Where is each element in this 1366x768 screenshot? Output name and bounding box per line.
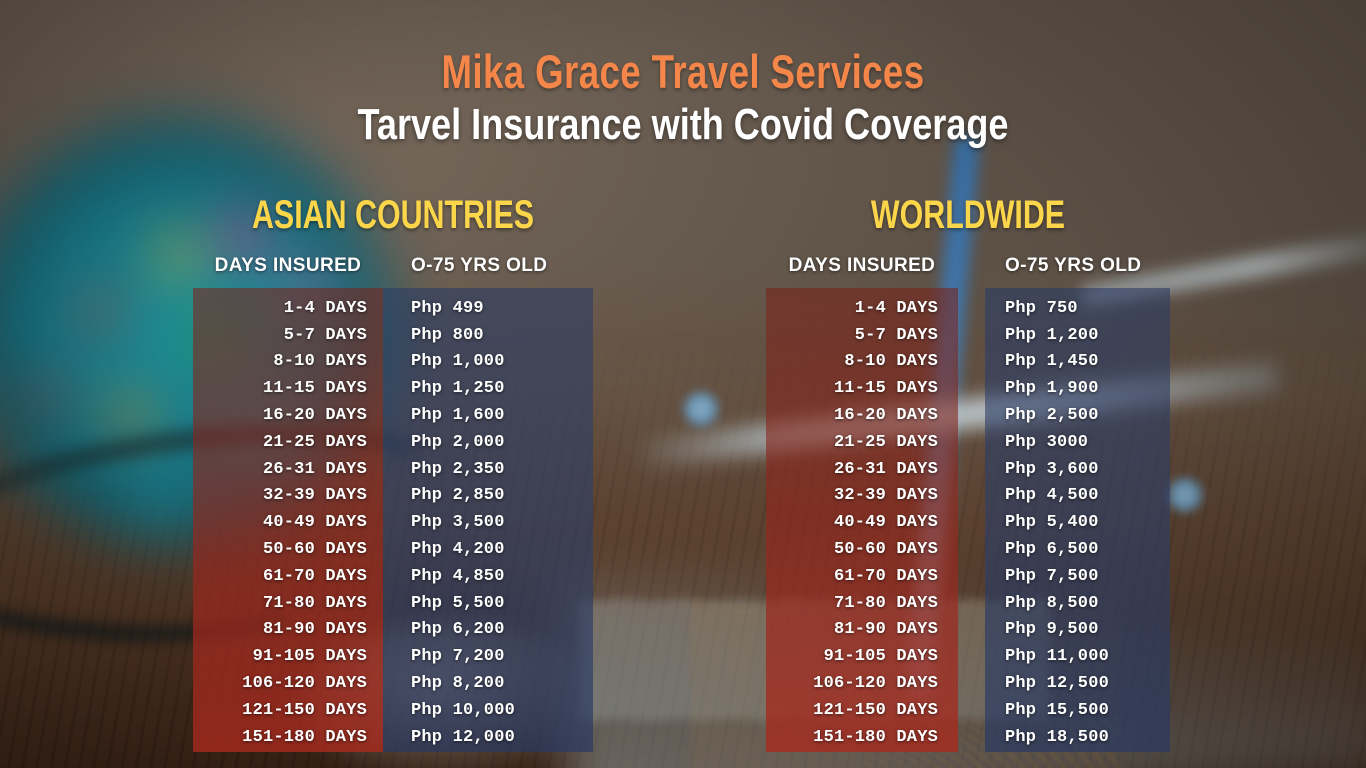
worldwide-days-cell: 121-150 DAYS <box>766 701 958 720</box>
asia-price-cell: Php 1,250 <box>383 379 593 398</box>
table-row: 50-60 DAYSPhp 4,200 <box>193 536 593 563</box>
table-row: 21-25 DAYSPhp 2,000 <box>193 429 593 456</box>
table-row: 81-90 DAYSPhp 9,500 <box>766 617 1170 644</box>
table-row: 16-20 DAYSPhp 1,600 <box>193 402 593 429</box>
worldwide-days-cell: 8-10 DAYS <box>766 352 958 371</box>
worldwide-days-cell: 1-4 DAYS <box>766 299 958 318</box>
worldwide-days-cell: 61-70 DAYS <box>766 567 958 586</box>
asia-header-days-insured: DAYS INSURED <box>193 255 383 277</box>
asia-days-cell: 1-4 DAYS <box>193 299 383 318</box>
worldwide-days-cell: 71-80 DAYS <box>766 594 958 613</box>
table-row: 8-10 DAYSPhp 1,000 <box>193 349 593 376</box>
table-row: 16-20 DAYSPhp 2,500 <box>766 402 1170 429</box>
asia-days-cell: 106-120 DAYS <box>193 674 383 693</box>
asia-price-cell: Php 5,500 <box>383 594 593 613</box>
asia-price-cell: Php 1,000 <box>383 352 593 371</box>
worldwide-header-age-range: O-75 YRS OLD <box>958 255 1170 277</box>
asia-days-cell: 71-80 DAYS <box>193 594 383 613</box>
asia-price-cell: Php 6,200 <box>383 620 593 639</box>
worldwide-price-cell: Php 1,200 <box>958 326 1170 345</box>
worldwide-price-cell: Php 2,500 <box>958 406 1170 425</box>
table-row: 1-4 DAYSPhp 499 <box>193 295 593 322</box>
asia-price-cell: Php 1,600 <box>383 406 593 425</box>
worldwide-price-cell: Php 8,500 <box>958 594 1170 613</box>
worldwide-rate-rows: 1-4 DAYSPhp 750 5-7 DAYSPhp 1,200 8-10 D… <box>766 288 1170 751</box>
table-row: 61-70 DAYSPhp 7,500 <box>766 563 1170 590</box>
worldwide-days-cell: 11-15 DAYS <box>766 379 958 398</box>
table-row: 91-105 DAYSPhp 7,200 <box>193 643 593 670</box>
region-title-asian-countries: ASIAN COUNTRIES <box>241 193 545 238</box>
table-row: 121-150 DAYSPhp 15,500 <box>766 697 1170 724</box>
worldwide-price-cell: Php 4,500 <box>958 486 1170 505</box>
worldwide-price-cell: Php 6,500 <box>958 540 1170 559</box>
worldwide-price-cell: Php 5,400 <box>958 513 1170 532</box>
table-row: 1-4 DAYSPhp 750 <box>766 295 1170 322</box>
table-row: 121-150 DAYSPhp 10,000 <box>193 697 593 724</box>
asia-price-cell: Php 8,200 <box>383 674 593 693</box>
poster-subtitle: Tarvel Insurance with Covid Coverage <box>123 100 1243 150</box>
asia-days-cell: 40-49 DAYS <box>193 513 383 532</box>
table-row: 151-180 DAYSPhp 18,500 <box>766 724 1170 751</box>
worldwide-days-cell: 21-25 DAYS <box>766 433 958 452</box>
worldwide-price-cell: Php 11,000 <box>958 647 1170 666</box>
worldwide-days-cell: 32-39 DAYS <box>766 486 958 505</box>
worldwide-days-cell: 151-180 DAYS <box>766 728 958 747</box>
table-row: 8-10 DAYSPhp 1,450 <box>766 349 1170 376</box>
asia-price-cell: Php 4,850 <box>383 567 593 586</box>
asia-price-cell: Php 800 <box>383 326 593 345</box>
worldwide-price-cell: Php 18,500 <box>958 728 1170 747</box>
region-title-worldwide: WORLDWIDE <box>814 193 1121 238</box>
table-row: 81-90 DAYSPhp 6,200 <box>193 617 593 644</box>
table-row: 40-49 DAYSPhp 3,500 <box>193 509 593 536</box>
table-row: 50-60 DAYSPhp 6,500 <box>766 536 1170 563</box>
asia-column-headers: DAYS INSURED O-75 YRS OLD <box>193 255 593 277</box>
table-row: 21-25 DAYSPhp 3000 <box>766 429 1170 456</box>
asia-days-cell: 11-15 DAYS <box>193 379 383 398</box>
table-row: 106-120 DAYSPhp 8,200 <box>193 670 593 697</box>
asia-price-cell: Php 2,000 <box>383 433 593 452</box>
table-row: 32-39 DAYSPhp 2,850 <box>193 483 593 510</box>
asia-days-cell: 50-60 DAYS <box>193 540 383 559</box>
table-row: 40-49 DAYSPhp 5,400 <box>766 509 1170 536</box>
worldwide-days-cell: 91-105 DAYS <box>766 647 958 666</box>
table-row: 61-70 DAYSPhp 4,850 <box>193 563 593 590</box>
asia-price-cell: Php 4,200 <box>383 540 593 559</box>
company-title: Mika Grace Travel Services <box>150 44 1215 99</box>
asia-days-cell: 32-39 DAYS <box>193 486 383 505</box>
table-row: 11-15 DAYSPhp 1,900 <box>766 375 1170 402</box>
table-row: 71-80 DAYSPhp 8,500 <box>766 590 1170 617</box>
table-row: 71-80 DAYSPhp 5,500 <box>193 590 593 617</box>
worldwide-days-cell: 5-7 DAYS <box>766 326 958 345</box>
worldwide-price-cell: Php 3,600 <box>958 460 1170 479</box>
asia-days-cell: 5-7 DAYS <box>193 326 383 345</box>
table-row: 151-180 DAYSPhp 12,000 <box>193 724 593 751</box>
table-row: 26-31 DAYSPhp 3,600 <box>766 456 1170 483</box>
poster-content: Mika Grace Travel Services Tarvel Insura… <box>0 0 1366 768</box>
table-row: 91-105 DAYSPhp 11,000 <box>766 643 1170 670</box>
table-row: 5-7 DAYSPhp 800 <box>193 322 593 349</box>
asia-days-cell: 81-90 DAYS <box>193 620 383 639</box>
worldwide-days-cell: 26-31 DAYS <box>766 460 958 479</box>
asia-days-cell: 121-150 DAYS <box>193 701 383 720</box>
table-row: 26-31 DAYSPhp 2,350 <box>193 456 593 483</box>
worldwide-days-cell: 50-60 DAYS <box>766 540 958 559</box>
worldwide-column-headers: DAYS INSURED O-75 YRS OLD <box>766 255 1170 277</box>
asia-days-cell: 61-70 DAYS <box>193 567 383 586</box>
travel-insurance-poster: Mika Grace Travel Services Tarvel Insura… <box>0 0 1366 768</box>
asia-days-cell: 91-105 DAYS <box>193 647 383 666</box>
worldwide-price-cell: Php 1,900 <box>958 379 1170 398</box>
worldwide-days-cell: 16-20 DAYS <box>766 406 958 425</box>
asia-header-age-range: O-75 YRS OLD <box>383 255 593 277</box>
table-row: 32-39 DAYSPhp 4,500 <box>766 483 1170 510</box>
worldwide-price-cell: Php 3000 <box>958 433 1170 452</box>
worldwide-price-cell: Php 750 <box>958 299 1170 318</box>
worldwide-price-cell: Php 15,500 <box>958 701 1170 720</box>
asia-rate-rows: 1-4 DAYSPhp 499 5-7 DAYSPhp 800 8-10 DAY… <box>193 288 593 751</box>
worldwide-days-cell: 81-90 DAYS <box>766 620 958 639</box>
asia-days-cell: 21-25 DAYS <box>193 433 383 452</box>
asia-days-cell: 16-20 DAYS <box>193 406 383 425</box>
worldwide-price-cell: Php 7,500 <box>958 567 1170 586</box>
asia-price-cell: Php 499 <box>383 299 593 318</box>
worldwide-header-days-insured: DAYS INSURED <box>766 255 958 277</box>
table-row: 5-7 DAYSPhp 1,200 <box>766 322 1170 349</box>
worldwide-days-cell: 40-49 DAYS <box>766 513 958 532</box>
asia-price-cell: Php 7,200 <box>383 647 593 666</box>
worldwide-price-cell: Php 1,450 <box>958 352 1170 371</box>
asia-price-cell: Php 3,500 <box>383 513 593 532</box>
worldwide-price-cell: Php 9,500 <box>958 620 1170 639</box>
asia-days-cell: 26-31 DAYS <box>193 460 383 479</box>
asia-days-cell: 8-10 DAYS <box>193 352 383 371</box>
asia-price-cell: Php 2,350 <box>383 460 593 479</box>
asia-price-cell: Php 12,000 <box>383 728 593 747</box>
asia-days-cell: 151-180 DAYS <box>193 728 383 747</box>
worldwide-days-cell: 106-120 DAYS <box>766 674 958 693</box>
table-row: 106-120 DAYSPhp 12,500 <box>766 670 1170 697</box>
asia-price-cell: Php 10,000 <box>383 701 593 720</box>
asia-price-cell: Php 2,850 <box>383 486 593 505</box>
table-row: 11-15 DAYSPhp 1,250 <box>193 375 593 402</box>
worldwide-price-cell: Php 12,500 <box>958 674 1170 693</box>
